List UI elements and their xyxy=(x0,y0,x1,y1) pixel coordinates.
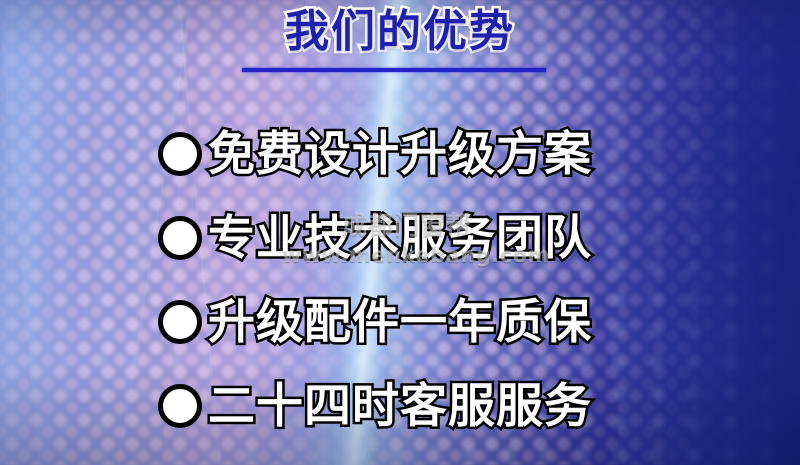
list-item: 升级配件一年质保 xyxy=(158,280,758,364)
list-item-label: 升级配件一年质保 xyxy=(208,299,592,346)
list-item-label: 二十四时客服服务 xyxy=(208,383,592,430)
list-item: 二十四时客服服务 xyxy=(158,364,758,448)
title-block: 我们的优势 xyxy=(0,8,800,56)
advantages-poster: 我们的优势 免费设计升级方案 专业技术服务团队 升级配件一年质保 二十四时客服服… xyxy=(0,0,800,465)
bullet-circle-icon xyxy=(158,300,202,344)
advantages-list: 免费设计升级方案 专业技术服务团队 升级配件一年质保 二十四时客服服务 xyxy=(158,112,758,448)
bullet-circle-icon xyxy=(158,132,202,176)
list-item: 专业技术服务团队 xyxy=(158,196,758,280)
page-title: 我们的优势 xyxy=(285,8,515,56)
list-item-label: 免费设计升级方案 xyxy=(208,131,592,178)
title-underline-rule xyxy=(242,68,546,72)
poster-content: 我们的优势 免费设计升级方案 专业技术服务团队 升级配件一年质保 二十四时客服服… xyxy=(0,0,800,465)
list-item-label: 专业技术服务团队 xyxy=(208,215,592,262)
list-item: 免费设计升级方案 xyxy=(158,112,758,196)
bullet-circle-icon xyxy=(158,216,202,260)
bullet-circle-icon xyxy=(158,384,202,428)
